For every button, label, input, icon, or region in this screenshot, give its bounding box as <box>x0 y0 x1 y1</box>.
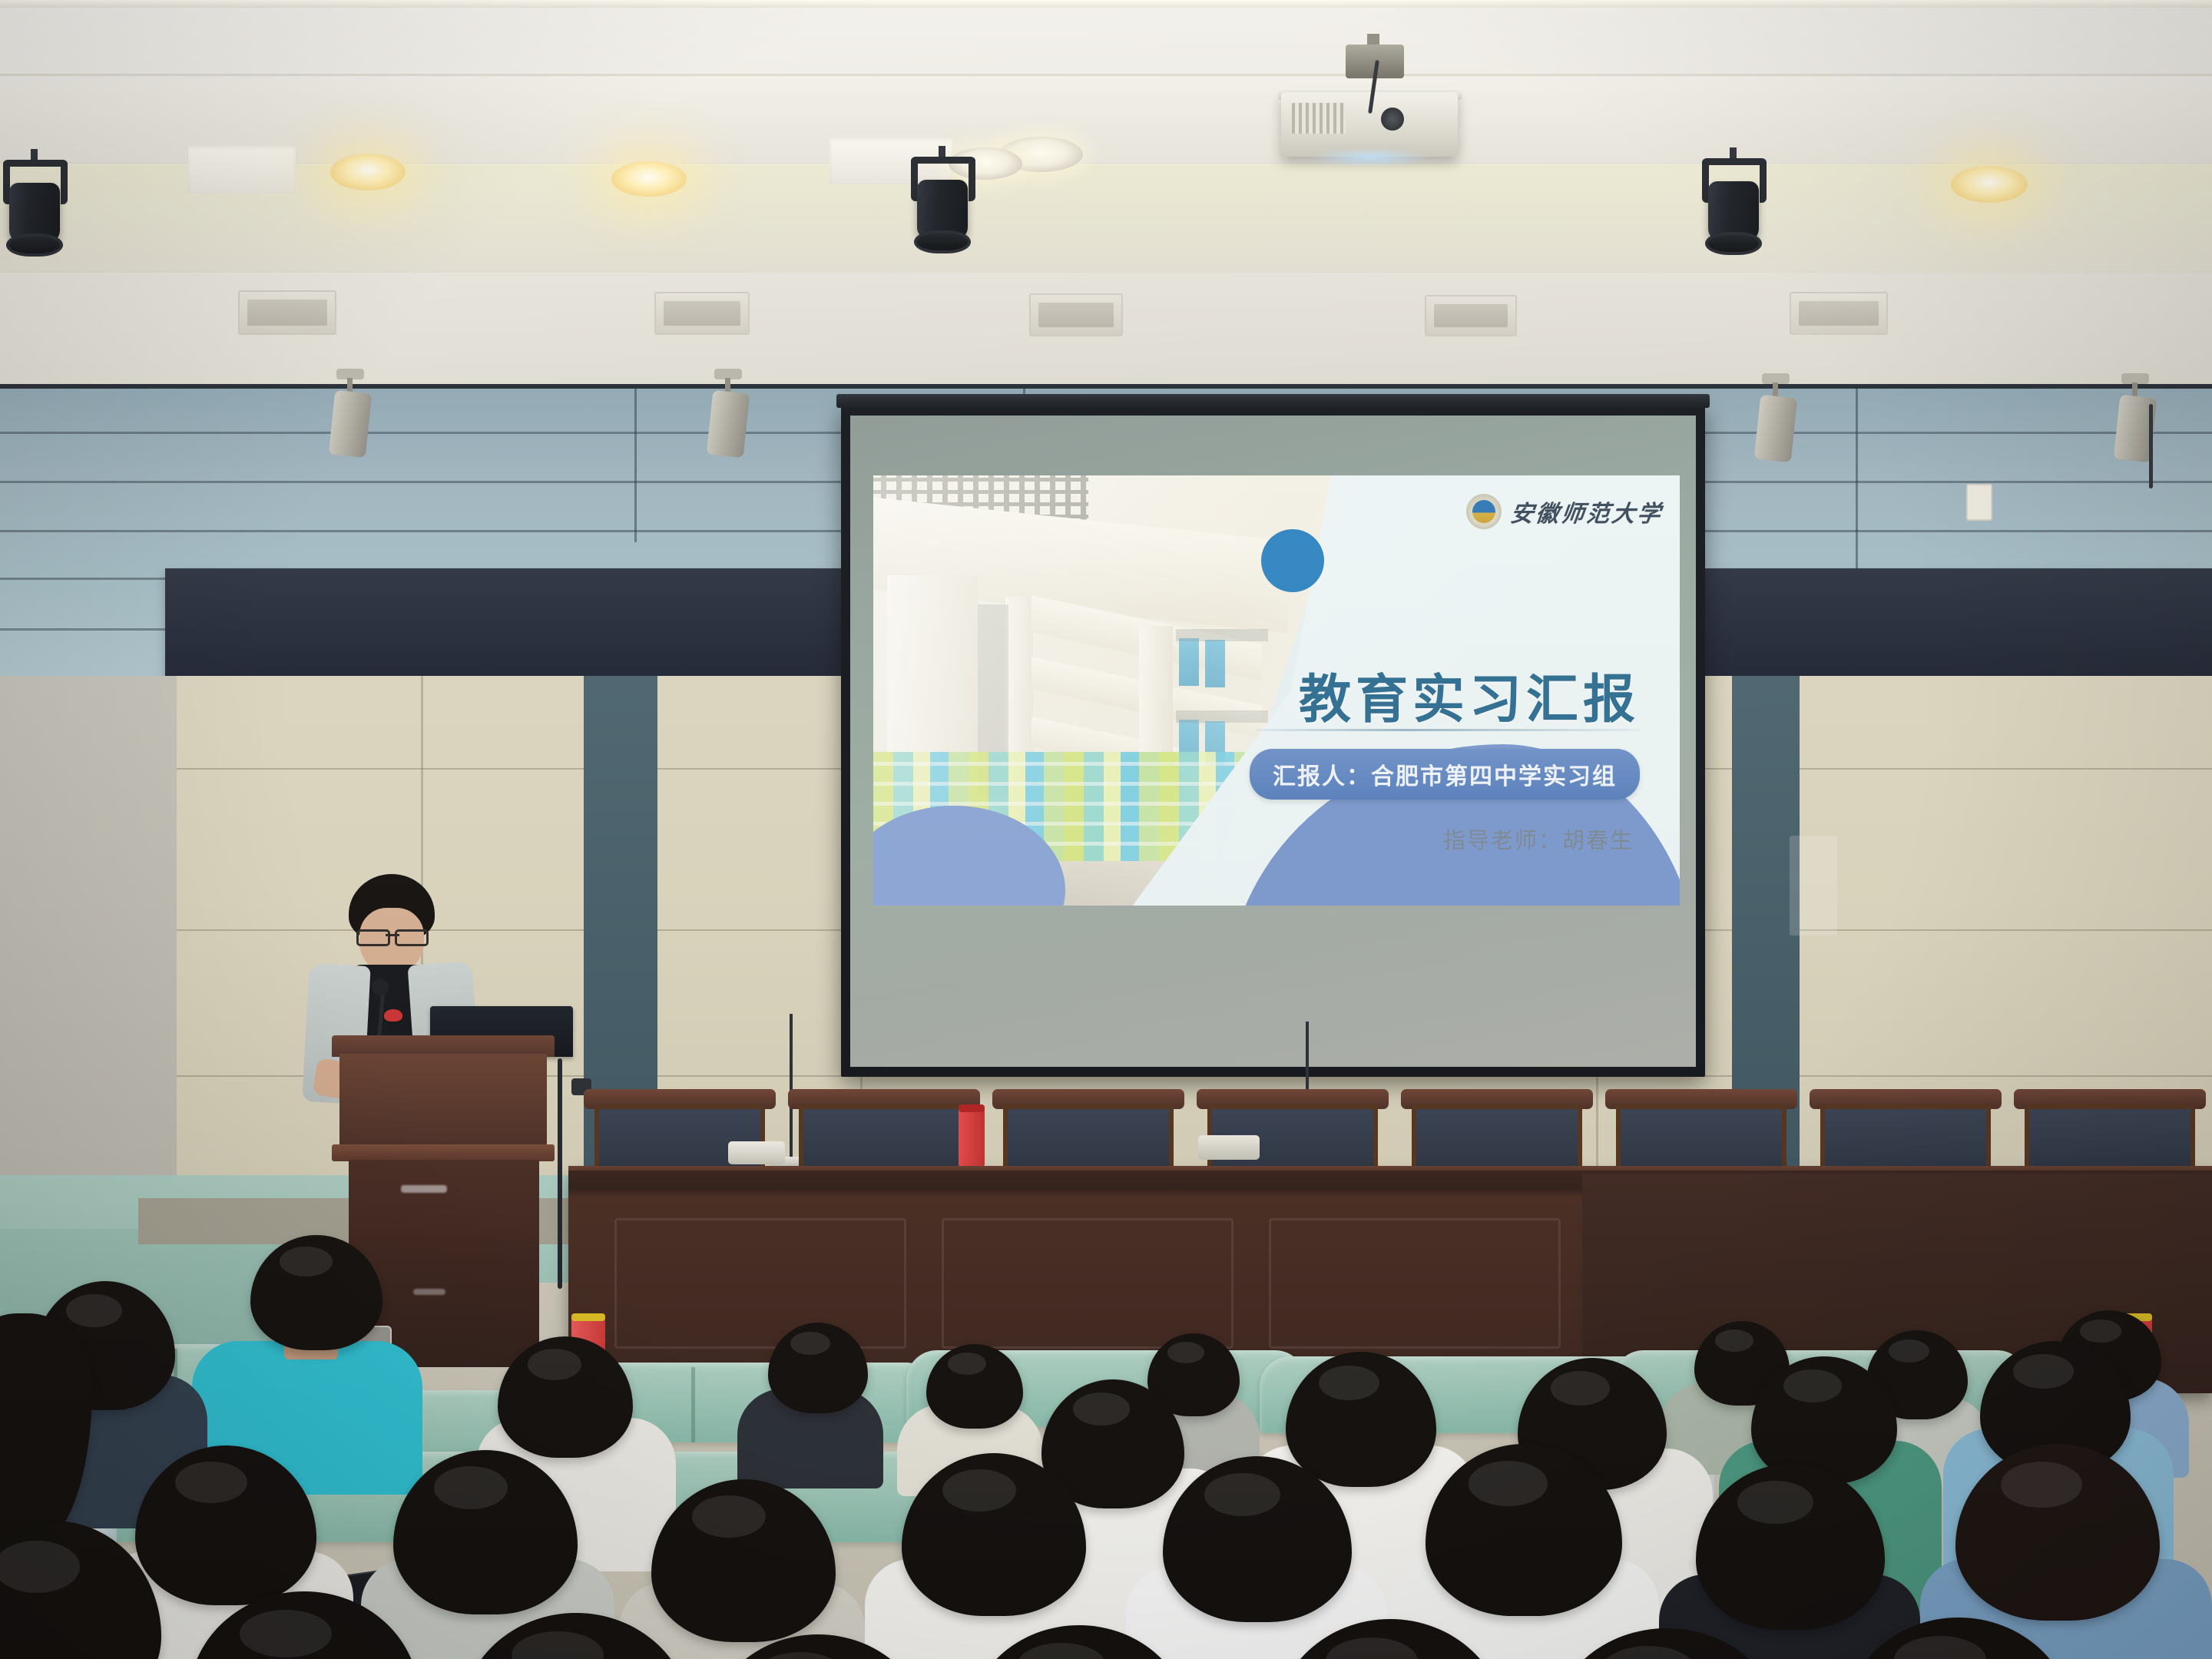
water-bottle-red[interactable] <box>959 1104 985 1169</box>
ceiling-vent <box>654 292 750 335</box>
projector-remote[interactable] <box>728 1141 785 1164</box>
ceiling-vent <box>238 290 336 335</box>
slide-title: 教育实习汇报 <box>1299 657 1640 733</box>
ceiling-vent <box>1029 293 1123 336</box>
stage-chair[interactable] <box>788 1089 980 1174</box>
cylinder-lamp-icon <box>1754 373 1797 465</box>
microphone-head-icon <box>372 979 389 995</box>
university-logo-text: 安徽师范大学 <box>1508 495 1664 528</box>
stage-chair[interactable] <box>1197 1089 1389 1174</box>
ceiling-vent <box>188 146 296 194</box>
cylinder-lamp-icon <box>329 369 372 461</box>
wall-switch[interactable] <box>1966 484 1992 521</box>
slide-accent-dot <box>1261 529 1324 592</box>
downlight-icon <box>611 161 687 197</box>
cylinder-lamp-icon <box>707 369 750 461</box>
ceiling-vent <box>1425 295 1517 336</box>
audience-head <box>250 1235 382 1350</box>
glasses-icon <box>356 929 429 942</box>
stage-chair[interactable] <box>2014 1089 2206 1174</box>
university-logo: 安徽师范大学 <box>1466 494 1663 529</box>
stage-chair[interactable] <box>1401 1089 1593 1174</box>
slide-advisor-line: 指导老师：胡春生 <box>1443 823 1634 855</box>
stage-chair[interactable] <box>1605 1089 1797 1174</box>
projection-screen: 安徽师范大学 教育实习汇报 汇报人：合肥市第四中学实习组 指导老师：胡春生 <box>841 405 1705 1077</box>
university-seal-icon <box>1466 494 1502 529</box>
wall-left-grey <box>0 676 177 1260</box>
wall-plate <box>1790 836 1837 935</box>
audience-head <box>498 1336 633 1458</box>
downlight-icon <box>1951 166 2028 203</box>
lecture-hall-photo: 安徽师范大学 教育实习汇报 汇报人：合肥市第四中学实习组 指导老师：胡春生 <box>0 0 2212 1659</box>
projector-icon <box>1281 71 1458 161</box>
stage-chair[interactable] <box>992 1089 1184 1174</box>
slide-title-divider <box>1256 729 1640 731</box>
audience-head <box>768 1323 868 1413</box>
presenter-badge <box>384 1009 402 1022</box>
slide-presenter-pill: 汇报人：合肥市第四中学实习组 <box>1250 749 1640 800</box>
ceiling-vent <box>1790 292 1888 335</box>
audience <box>0 1198 2212 1659</box>
downlight-icon <box>330 154 406 190</box>
screen-surface: 安徽师范大学 教育实习汇报 汇报人：合肥市第四中学实习组 指导老师：胡春生 <box>850 416 1696 1067</box>
stage-chair[interactable] <box>1810 1089 2002 1174</box>
presentation-slide: 安徽师范大学 教育实习汇报 汇报人：合肥市第四中学实习组 指导老师：胡春生 <box>873 475 1680 906</box>
cylinder-lamp-icon <box>2114 373 2157 472</box>
projector-remote[interactable] <box>1198 1135 1260 1160</box>
